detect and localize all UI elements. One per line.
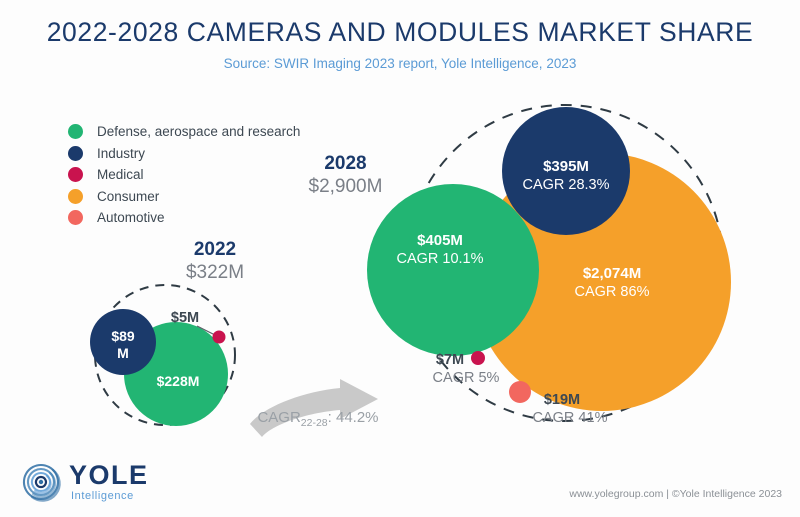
arrow-cagr-value: : 44.2% — [328, 409, 379, 426]
arrow-cagr-subscript: 22-28 — [301, 417, 328, 429]
bubble-cagr-2028-defense: CAGR 10.1% — [396, 251, 483, 267]
bubble-label-2028-defense: $405M — [417, 232, 463, 249]
bubble-chart: $89 M $228M $5M CAGR22-28: 44.2% $395M C… — [0, 0, 800, 517]
bubble-label-2028-automotive: $19M — [544, 392, 580, 408]
bubble-cagr-2028-automotive: CAGR 41% — [533, 410, 608, 426]
bubble-2028-automotive — [509, 381, 531, 403]
bubble-2022-medical — [213, 331, 226, 344]
logo-tagline: Intelligence — [71, 491, 149, 502]
bubble-label-2028-medical: $7M — [436, 352, 464, 368]
bubble-label-2022-medical: $5M — [171, 310, 199, 326]
bubble-cagr-2028-industry: CAGR 28.3% — [522, 177, 609, 193]
bubble-cagr-2028-medical: CAGR 5% — [433, 370, 500, 386]
footer-copyright: www.yolegroup.com | ©Yole Intelligence 2… — [569, 488, 782, 500]
bubble-label-2028-industry: $395M — [543, 158, 589, 175]
logo-wordmark: YOLE Intelligence — [69, 462, 149, 502]
yole-spiral-icon — [20, 461, 62, 503]
bubble-label-2028-consumer: $2,074M — [583, 265, 641, 282]
bubble-label-2022-industry-line2: M — [117, 345, 129, 361]
bubble-2028-medical — [471, 351, 485, 365]
infographic-page: 2022-2028 CAMERAS AND MODULES MARKET SHA… — [0, 0, 800, 517]
bubble-label-2022-industry-line1: $89 — [111, 328, 135, 344]
arrow-cagr-prefix: CAGR — [257, 409, 301, 426]
logo-name: YOLE — [69, 462, 149, 489]
bubble-label-2022-defense: $228M — [157, 373, 200, 389]
footer-logo: YOLE Intelligence — [20, 461, 149, 503]
bubble-2028-defense — [367, 184, 539, 356]
bubble-cagr-2028-consumer: CAGR 86% — [575, 284, 650, 300]
